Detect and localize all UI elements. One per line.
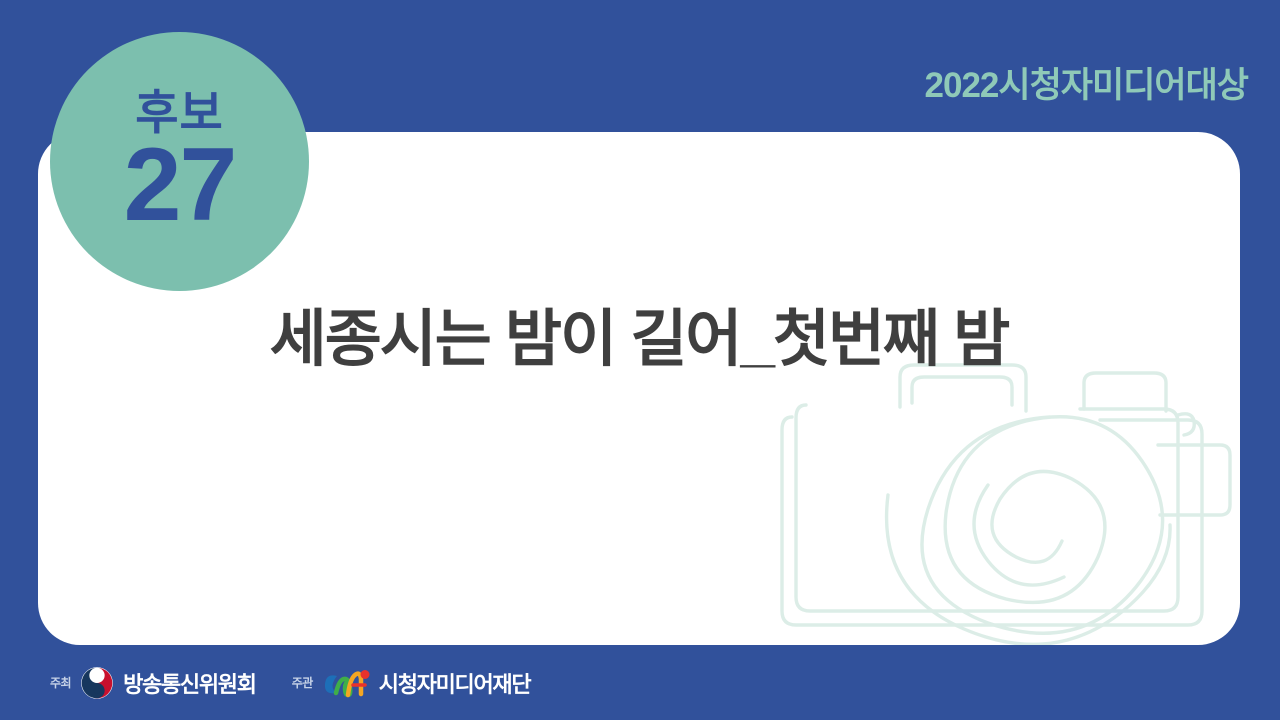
credit-organizer: 주관 시청자미디어재단 bbox=[292, 666, 531, 700]
candidate-number-badge: 후보 27 bbox=[50, 32, 309, 291]
entry-title: 세종시는 밤이 길어_첫번째 밤 bbox=[38, 306, 1240, 374]
credit-host: 주최 방송통신위원회 bbox=[50, 666, 256, 700]
credit-organization-organizer: 시청자미디어재단 bbox=[379, 667, 531, 699]
korea-government-taegeuk-icon bbox=[80, 666, 114, 700]
credit-organization-host: 방송통신위원회 bbox=[123, 667, 256, 699]
presentation-slide: 2022시청자미디어대상 bbox=[0, 0, 1280, 720]
credit-role-organizer: 주관 bbox=[292, 674, 313, 691]
footer-credits: 주최 방송통신위원회 주관 시청자미디어재단 bbox=[0, 645, 1280, 720]
candidate-badge-number: 27 bbox=[124, 138, 236, 234]
credit-role-host: 주최 bbox=[50, 674, 71, 691]
cmf-foundation-icon bbox=[322, 666, 372, 700]
event-title: 2022시청자미디어대상 bbox=[925, 68, 1248, 103]
